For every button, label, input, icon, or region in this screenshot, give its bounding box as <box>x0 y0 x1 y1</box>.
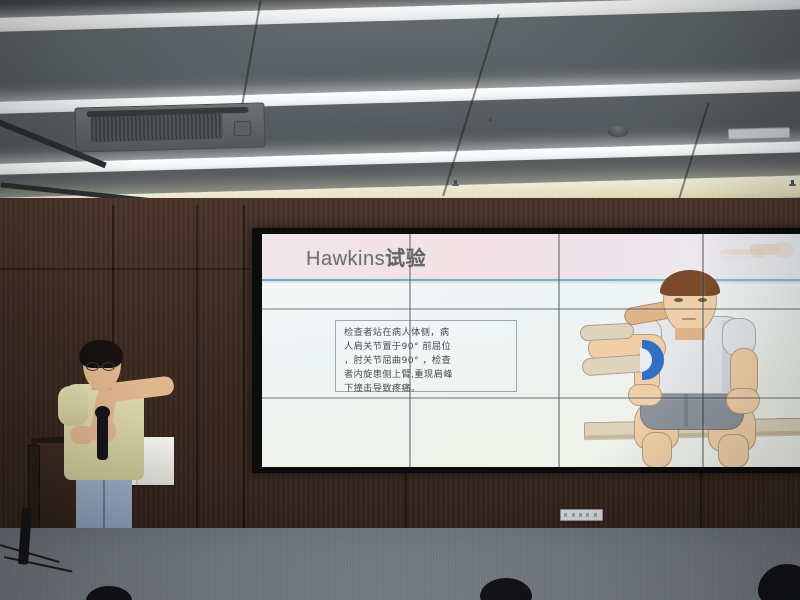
outlet-slot <box>586 513 589 517</box>
outlet-slot <box>572 513 575 517</box>
outlet-slot <box>564 513 567 517</box>
smoke-detector <box>608 126 628 137</box>
outlet-slot <box>579 513 582 517</box>
sprinkler-head <box>452 180 459 188</box>
microphone <box>97 414 108 460</box>
microphone-head <box>95 406 110 419</box>
led-video-wall[interactable]: Hawkins试验 检查者站在病人体侧，病 人肩关节置于90° 前屈位 ，肘关节… <box>262 234 800 467</box>
recessed-slot-light <box>728 127 790 140</box>
glasses-bridge <box>98 366 103 367</box>
wall-panel-seam <box>196 205 198 535</box>
presenter-hand <box>70 426 94 444</box>
glasses-lens-right <box>102 362 115 371</box>
wall-outlet-plate <box>560 509 603 521</box>
ceiling-ac-cassette <box>74 102 265 152</box>
lecture-hall-scene: Hawkins试验 检查者站在病人体侧，病 人肩关节置于90° 前屈位 ，肘关节… <box>0 0 800 600</box>
sprinkler-head <box>789 180 796 188</box>
sprinkler-head <box>487 118 494 126</box>
wall-panel-seam <box>0 268 250 270</box>
ac-control-knob <box>234 121 251 136</box>
wall-panel-seam <box>243 205 245 535</box>
ac-grille <box>91 114 223 142</box>
presenter-sleeve <box>58 386 88 426</box>
outlet-slot <box>594 513 597 517</box>
screen-glare <box>262 234 800 467</box>
